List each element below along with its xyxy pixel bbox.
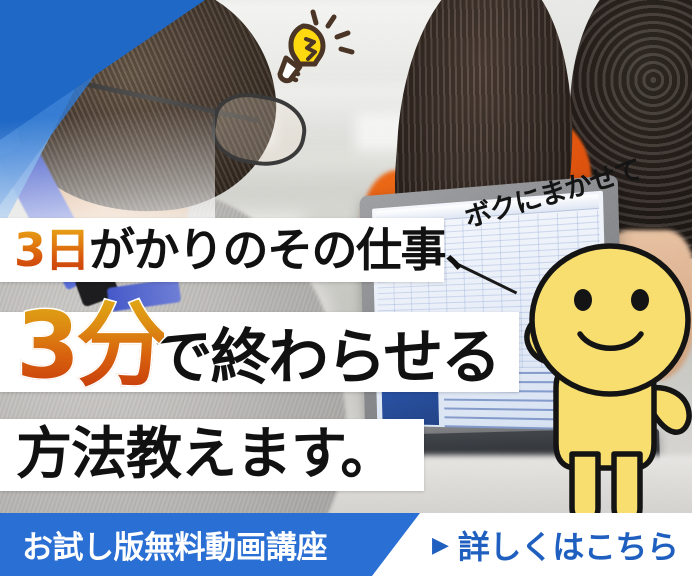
headline-accent-3min-outline: 3分 bbox=[16, 300, 164, 392]
headline-line-1-rest: がかりのその仕事、 bbox=[89, 227, 490, 273]
lightbulb-icon bbox=[258, 6, 366, 84]
headline-band-1: 3日 がかりのその仕事、 bbox=[0, 218, 444, 282]
cta-details-link[interactable]: ▶ 詳しくはこちら bbox=[432, 513, 678, 576]
cta-bar[interactable]: お試し版無料動画講座 ▶ 詳しくはこちら bbox=[0, 513, 692, 576]
promo-banner: ボクにまかせて 3日 がかりの bbox=[0, 0, 692, 576]
yellow-mascot-character bbox=[498, 236, 692, 521]
play-arrow-icon: ▶ bbox=[432, 534, 449, 556]
cta-badge-label: お試し版無料動画講座 bbox=[0, 522, 327, 567]
cta-badge[interactable]: お試し版無料動画講座 bbox=[0, 513, 420, 576]
headline-line-3: 方法教えます。 bbox=[0, 427, 395, 483]
headline-band-3: 方法教えます。 bbox=[0, 419, 424, 491]
corner-triangle-dark bbox=[0, 0, 205, 140]
headline-line-2-rest: で終わらせる bbox=[152, 328, 499, 388]
cta-link-label: 詳しくはこちら bbox=[458, 522, 679, 568]
headline-line-1: 3日 がかりのその仕事、 bbox=[0, 227, 490, 273]
headline-accent-3days: 3日 bbox=[14, 227, 89, 273]
